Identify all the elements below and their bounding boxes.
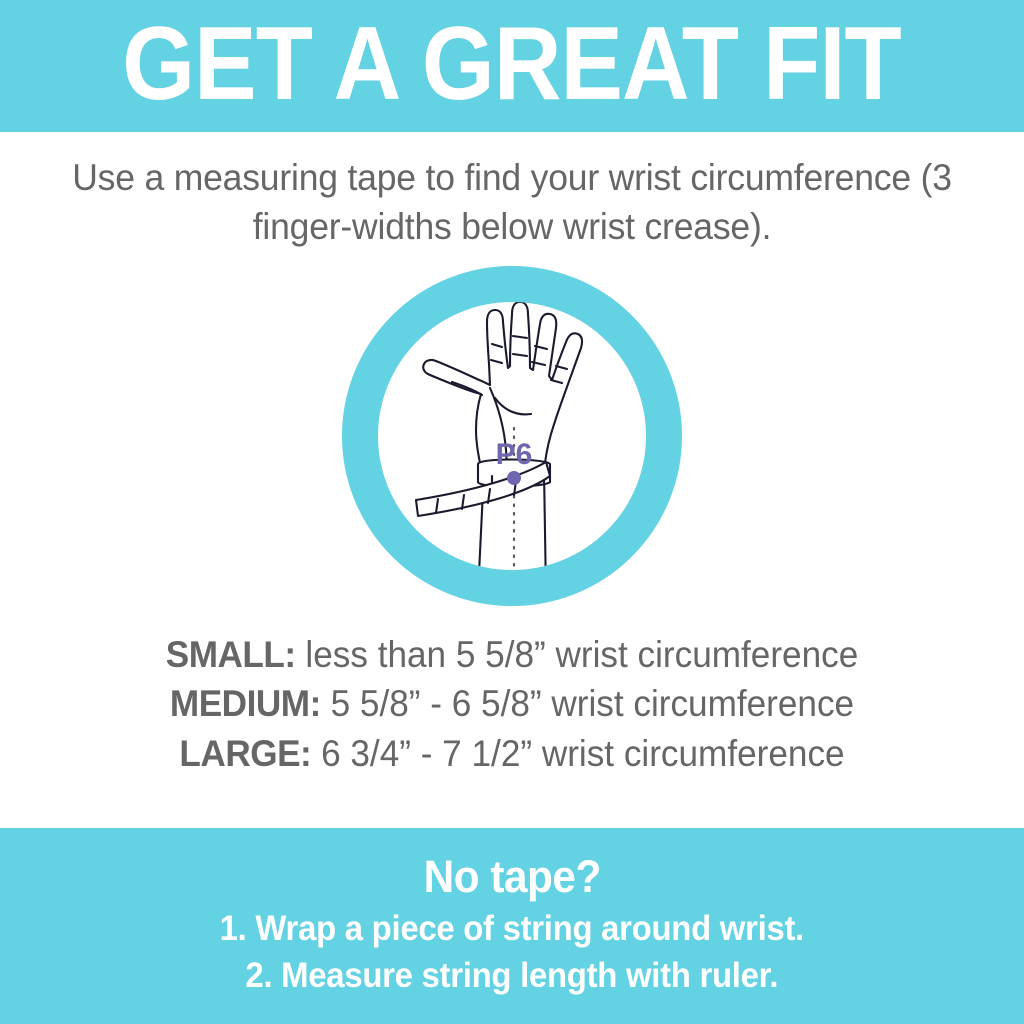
footer-step-2: 2. Measure string length with ruler. xyxy=(220,953,804,999)
size-row-large: LARGE: 6 3/4” - 7 1/2” wrist circumferen… xyxy=(26,729,999,779)
size-desc-medium: 5 5/8” - 6 5/8” wrist circumference xyxy=(331,683,855,724)
thumb-crease xyxy=(452,382,482,395)
finger-crease-2b xyxy=(513,336,527,338)
size-label-large: LARGE: xyxy=(179,733,311,774)
size-chart-list: SMALL: less than 5 5/8” wrist circumfere… xyxy=(0,630,1024,779)
main-content: Use a measuring tape to find your wrist … xyxy=(0,132,1024,828)
size-row-medium: MEDIUM: 5 5/8” - 6 5/8” wrist circumfere… xyxy=(26,679,999,729)
p6-point-dot xyxy=(507,471,521,485)
wrist-measurement-illustration: P6 xyxy=(332,264,692,616)
sizing-infographic: GET A GREAT FIT Use a measuring tape to … xyxy=(0,0,1024,1024)
palm-crease-top xyxy=(495,398,531,414)
footer-steps-list: 1. Wrap a piece of string around wrist. … xyxy=(201,906,823,998)
page-title: GET A GREAT FIT xyxy=(123,12,902,120)
finger-crease-1b xyxy=(492,344,502,347)
size-desc-small: less than 5 5/8” wrist circumference xyxy=(305,634,858,675)
size-label-medium: MEDIUM: xyxy=(170,683,321,724)
footer-banner: No tape? 1. Wrap a piece of string aroun… xyxy=(0,828,1024,1024)
finger-crease-2a xyxy=(513,354,527,356)
intro-instruction-text: Use a measuring tape to find your wrist … xyxy=(26,132,998,252)
finger-crease-4b xyxy=(556,366,567,369)
header-banner: GET A GREAT FIT xyxy=(0,0,1024,132)
p6-label: P6 xyxy=(496,438,533,471)
footer-title: No tape? xyxy=(423,853,600,900)
footer-step-1: 1. Wrap a piece of string around wrist. xyxy=(220,906,804,952)
size-row-small: SMALL: less than 5 5/8” wrist circumfere… xyxy=(26,630,999,680)
size-desc-large: 6 3/4” - 7 1/2” wrist circumference xyxy=(321,733,845,774)
finger-crease-1a xyxy=(491,360,502,363)
finger-crease-4a xyxy=(551,380,562,383)
size-label-small: SMALL: xyxy=(166,634,296,675)
